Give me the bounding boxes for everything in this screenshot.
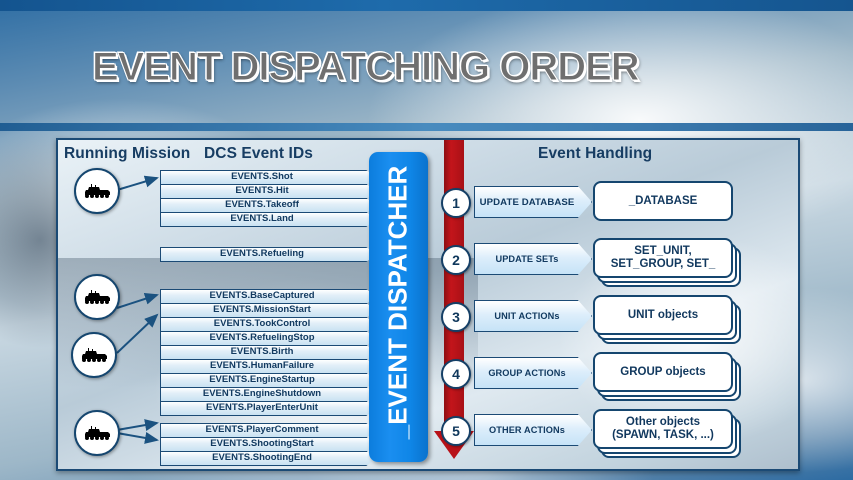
action-label: UPDATE SETs	[475, 254, 579, 264]
object-card-stack-2[interactable]: SET_UNIT, SET_GROUP, SET_	[593, 238, 741, 280]
event-label: EVENTS.PlayerEnterUnit	[161, 401, 363, 415]
step-number-label: 3	[452, 309, 460, 325]
page-title: EVENT DISPATCHING ORDER	[92, 45, 639, 90]
event-label: EVENTS.PlayerComment	[161, 423, 363, 437]
event-label: EVENTS.ShootingEnd	[161, 451, 363, 465]
event-chevron[interactable]: EVENTS.Land	[160, 212, 376, 227]
event-label: EVENTS.MissionStart	[161, 303, 363, 317]
step-number-3: 3	[441, 302, 471, 332]
action-chevron-1[interactable]: UPDATE DATABASE	[474, 186, 592, 218]
action-label: UNIT ACTIONs	[475, 311, 579, 321]
header-event-handling: Event Handling	[538, 145, 652, 163]
event-chevron[interactable]: EVENTS.MissionStart	[160, 303, 376, 318]
event-label: EVENTS.TookControl	[161, 317, 363, 331]
event-chevron[interactable]: EVENTS.Shot	[160, 170, 376, 185]
event-chevron[interactable]: EVENTS.PlayerEnterUnit	[160, 401, 376, 416]
event-dispatcher-column: _EVENT DISPATCHER	[369, 152, 428, 462]
tank-icon-group-4	[74, 410, 120, 456]
event-chevron[interactable]: EVENTS.PlayerComment	[160, 423, 376, 438]
event-label: EVENTS.Hit	[161, 184, 363, 198]
event-chevron[interactable]: EVENTS.ShootingStart	[160, 437, 376, 452]
header-dcs-event-ids: DCS Event IDs	[204, 145, 313, 163]
object-card[interactable]: Other objects (SPAWN, TASK, ...)	[593, 409, 733, 449]
event-label: EVENTS.HumanFailure	[161, 359, 363, 373]
event-label: EVENTS.Refueling	[161, 247, 363, 261]
event-chevron[interactable]: EVENTS.EngineShutdown	[160, 387, 376, 402]
diagram-panel: Running Mission DCS Event IDs Event Hand…	[56, 138, 800, 471]
event-chevron[interactable]: EVENTS.Hit	[160, 184, 376, 199]
object-card-stack-4[interactable]: GROUP objects	[593, 352, 741, 394]
object-card-stack-5[interactable]: Other objects (SPAWN, TASK, ...)	[593, 409, 741, 451]
event-label: EVENTS.EngineStartup	[161, 373, 363, 387]
object-card[interactable]: UNIT objects	[593, 295, 733, 335]
event-label: EVENTS.RefuelingStop	[161, 331, 363, 345]
step-number-label: 4	[452, 366, 460, 382]
step-number-2: 2	[441, 245, 471, 275]
event-label: EVENTS.EngineShutdown	[161, 387, 363, 401]
tank-icon	[80, 347, 108, 363]
object-card-label: UNIT objects	[625, 309, 701, 322]
event-label: EVENTS.Shot	[161, 170, 363, 184]
action-chevron-3[interactable]: UNIT ACTIONs	[474, 300, 592, 332]
object-card[interactable]: GROUP objects	[593, 352, 733, 392]
action-label: GROUP ACTIONs	[475, 368, 579, 378]
action-label: OTHER ACTIONs	[475, 425, 579, 435]
step-number-label: 5	[452, 423, 460, 439]
object-card[interactable]: _DATABASE	[593, 181, 733, 221]
object-card-stack-1[interactable]: _DATABASE	[593, 181, 741, 223]
step-number-label: 2	[452, 252, 460, 268]
event-chevron[interactable]: EVENTS.Birth	[160, 345, 376, 360]
action-chevron-4[interactable]: GROUP ACTIONs	[474, 357, 592, 389]
event-chevron[interactable]: EVENTS.BaseCaptured	[160, 289, 376, 304]
object-card-label: GROUP objects	[617, 366, 708, 379]
object-card-label: _DATABASE	[626, 195, 701, 208]
slide-root: EVENT DISPATCHING ORDER Running Mission …	[0, 0, 853, 480]
event-chevron[interactable]: EVENTS.RefuelingStop	[160, 331, 376, 346]
step-number-1: 1	[441, 188, 471, 218]
event-chevron[interactable]: EVENTS.Refueling	[160, 247, 376, 262]
tank-icon-group-3a	[74, 274, 120, 320]
tank-icon	[83, 289, 111, 305]
top-band	[0, 0, 853, 11]
event-label: EVENTS.Land	[161, 212, 363, 226]
action-label: UPDATE DATABASE	[475, 197, 579, 208]
event-label: EVENTS.Birth	[161, 345, 363, 359]
title-underline-band	[0, 123, 853, 131]
event-chevron[interactable]: EVENTS.Takeoff	[160, 198, 376, 213]
tank-icon	[83, 425, 111, 441]
event-chevron[interactable]: EVENTS.TookControl	[160, 317, 376, 332]
event-label: EVENTS.ShootingStart	[161, 437, 363, 451]
tank-icon	[83, 183, 111, 199]
object-card-stack-3[interactable]: UNIT objects	[593, 295, 741, 337]
step-number-5: 5	[441, 416, 471, 446]
action-chevron-5[interactable]: OTHER ACTIONs	[474, 414, 592, 446]
step-number-4: 4	[441, 359, 471, 389]
step-number-label: 1	[452, 195, 460, 211]
event-dispatcher-label: _EVENT DISPATCHER	[383, 148, 414, 458]
action-chevron-2[interactable]: UPDATE SETs	[474, 243, 592, 275]
header-running-mission: Running Mission	[64, 145, 190, 163]
event-chevron[interactable]: EVENTS.EngineStartup	[160, 373, 376, 388]
tank-icon-group-3b	[71, 332, 117, 378]
event-chevron[interactable]: EVENTS.HumanFailure	[160, 359, 376, 374]
object-card-label: SET_UNIT, SET_GROUP, SET_	[608, 245, 719, 271]
event-chevron[interactable]: EVENTS.ShootingEnd	[160, 451, 376, 466]
object-card-label: Other objects (SPAWN, TASK, ...)	[609, 416, 717, 442]
flow-arrow-shaft	[444, 140, 464, 436]
event-label: EVENTS.BaseCaptured	[161, 289, 363, 303]
object-card[interactable]: SET_UNIT, SET_GROUP, SET_	[593, 238, 733, 278]
tank-icon-group-1	[74, 168, 120, 214]
event-label: EVENTS.Takeoff	[161, 198, 363, 212]
